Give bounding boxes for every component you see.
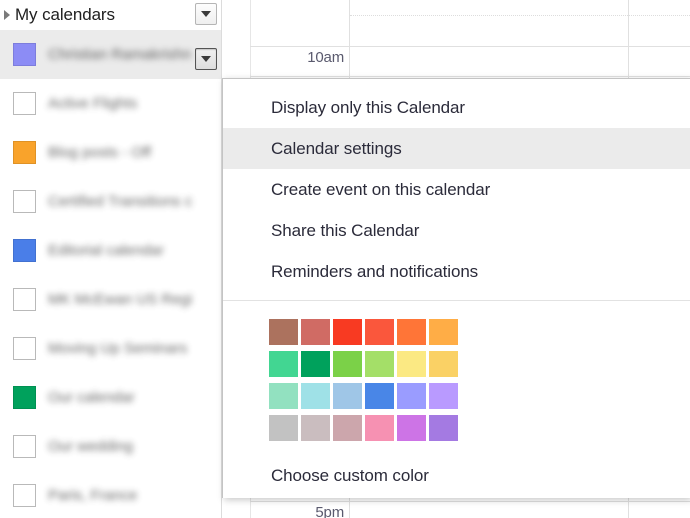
menu-item-label: Create event on this calendar	[271, 180, 490, 200]
color-swatch-r2c5[interactable]	[397, 351, 426, 377]
calendar-list-item-0[interactable]: Christian Ramakrishn	[0, 30, 222, 79]
hour-gridline	[250, 46, 690, 47]
color-swatch-r3c1[interactable]	[269, 383, 298, 409]
calendar-name: Editorial calendar	[48, 242, 164, 259]
calendar-color-swatch[interactable]	[13, 435, 36, 458]
color-swatch-r1c5[interactable]	[397, 319, 426, 345]
disclosure-triangle-icon[interactable]	[4, 10, 10, 20]
color-swatch-r4c3[interactable]	[333, 415, 362, 441]
menu-item-calendar-settings[interactable]: Calendar settings	[223, 128, 690, 169]
color-swatch-r2c4[interactable]	[365, 351, 394, 377]
calendar-list: Christian Ramakrishn Active Flights Blog…	[0, 30, 222, 518]
calendar-color-swatch[interactable]	[13, 239, 36, 262]
color-palette-grid	[223, 301, 461, 446]
chevron-down-icon	[201, 11, 211, 17]
color-swatch-r3c3[interactable]	[333, 383, 362, 409]
time-label-clipped: 5pm	[250, 504, 344, 518]
menu-item-display-only-this-calendar[interactable]: Display only this Calendar	[223, 87, 690, 128]
color-swatch-r2c1[interactable]	[269, 351, 298, 377]
choose-custom-color-button[interactable]: Choose custom color	[223, 466, 690, 486]
calendar-name: Certified Transitions c	[48, 193, 192, 210]
color-swatch-r3c4[interactable]	[365, 383, 394, 409]
menu-item-share-this-calendar[interactable]: Share this Calendar	[223, 210, 690, 251]
calendar-list-item-7[interactable]: Our calendar	[0, 373, 222, 422]
calendar-name: Our wedding	[48, 438, 133, 455]
calendar-color-swatch[interactable]	[13, 43, 36, 66]
color-swatch-r4c1[interactable]	[269, 415, 298, 441]
calendar-options-dropdown-button[interactable]	[195, 48, 217, 70]
color-swatch-r1c2[interactable]	[301, 319, 330, 345]
half-hour-gridline	[350, 15, 690, 17]
my-calendars-sidebar: My calendars Christian Ramakrishn Active…	[0, 0, 222, 518]
calendar-color-swatch[interactable]	[13, 484, 36, 507]
color-swatch-r1c1[interactable]	[269, 319, 298, 345]
color-swatch-r1c6[interactable]	[429, 319, 458, 345]
hour-gridline	[250, 76, 690, 77]
calendar-list-item-2[interactable]: Blog posts - Off	[0, 128, 222, 177]
calendar-color-swatch[interactable]	[13, 288, 36, 311]
color-swatch-r4c4[interactable]	[365, 415, 394, 441]
menu-item-label: Display only this Calendar	[271, 98, 465, 118]
my-calendars-dropdown-button[interactable]	[195, 3, 217, 25]
calendar-name: Christian Ramakrishn	[48, 46, 191, 63]
color-swatch-r3c5[interactable]	[397, 383, 426, 409]
calendar-list-item-5[interactable]: MK McEwan US Regi	[0, 275, 222, 324]
calendar-color-swatch[interactable]	[13, 92, 36, 115]
color-swatch-r2c3[interactable]	[333, 351, 362, 377]
time-label-10am: 10am	[250, 49, 344, 66]
menu-item-reminders-and-notifications[interactable]: Reminders and notifications	[223, 251, 690, 292]
context-menu-items: Display only this Calendar Calendar sett…	[223, 79, 690, 292]
calendar-color-swatch[interactable]	[13, 190, 36, 213]
menu-item-create-event-on-this-calendar[interactable]: Create event on this calendar	[223, 169, 690, 210]
calendar-name: Our calendar	[48, 389, 135, 406]
calendar-list-item-8[interactable]: Our wedding	[0, 422, 222, 471]
calendar-context-menu: Display only this Calendar Calendar sett…	[222, 78, 690, 498]
calendar-name: MK McEwan US Regi	[48, 291, 192, 308]
chevron-down-icon	[201, 56, 211, 62]
menu-item-label: Reminders and notifications	[271, 262, 478, 282]
my-calendars-header[interactable]: My calendars	[0, 0, 222, 30]
calendar-color-swatch[interactable]	[13, 386, 36, 409]
calendar-color-swatch[interactable]	[13, 141, 36, 164]
color-swatch-r1c3[interactable]	[333, 319, 362, 345]
calendar-app-root: 10am 5pm My calendars Christian Ramakris…	[0, 0, 690, 518]
calendar-list-item-4[interactable]: Editorial calendar	[0, 226, 222, 275]
calendar-list-item-6[interactable]: Moving Up Seminars	[0, 324, 222, 373]
color-swatch-r4c6[interactable]	[429, 415, 458, 441]
menu-item-label: Calendar settings	[271, 139, 402, 159]
calendar-list-item-3[interactable]: Certified Transitions c	[0, 177, 222, 226]
color-swatch-r2c6[interactable]	[429, 351, 458, 377]
hour-gridline	[250, 501, 690, 502]
menu-item-label: Share this Calendar	[271, 221, 419, 241]
color-swatch-r3c2[interactable]	[301, 383, 330, 409]
calendar-name: Paris, France	[48, 487, 137, 504]
calendar-list-item-9[interactable]: Paris, France	[0, 471, 222, 518]
color-swatch-r1c4[interactable]	[365, 319, 394, 345]
calendar-name: Blog posts - Off	[48, 144, 151, 161]
color-swatch-r4c2[interactable]	[301, 415, 330, 441]
calendar-name: Active Flights	[48, 95, 137, 112]
color-swatch-r3c6[interactable]	[429, 383, 458, 409]
color-swatch-r2c2[interactable]	[301, 351, 330, 377]
calendar-name: Moving Up Seminars	[48, 340, 187, 357]
page-title: My calendars	[15, 5, 115, 25]
color-swatch-r4c5[interactable]	[397, 415, 426, 441]
calendar-list-item-1[interactable]: Active Flights	[0, 79, 222, 128]
calendar-color-swatch[interactable]	[13, 337, 36, 360]
